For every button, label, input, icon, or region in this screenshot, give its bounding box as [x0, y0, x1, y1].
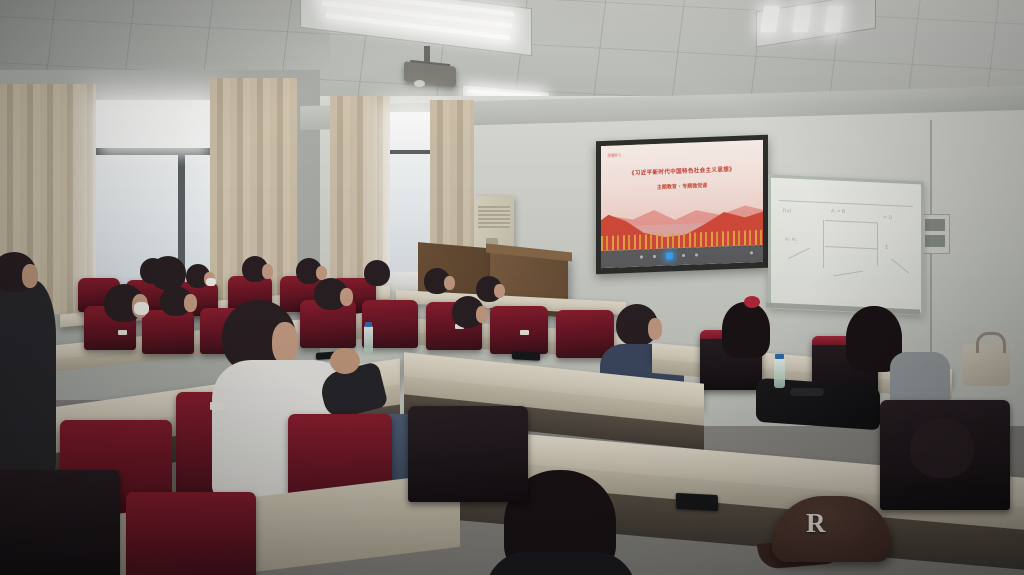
student-hand [330, 348, 360, 374]
water-bottle[interactable] [774, 358, 785, 388]
hair-tie [744, 296, 760, 308]
student-face [272, 322, 298, 364]
toolbar-play-icon[interactable] [666, 253, 673, 260]
student-face [444, 276, 455, 290]
window-frame-horizontal [390, 150, 432, 154]
student-shoulder [486, 552, 636, 575]
student-hair-long [722, 302, 770, 358]
whiteboard-note: f(x) [783, 208, 792, 214]
lecture-hall-photo: 党课学习 《习近平新时代中国特色社会主义思想》 主题教育 · 专题微党课 f(x… [0, 0, 1024, 575]
toolbar-rewind-icon[interactable] [653, 255, 656, 258]
auditorium-seat[interactable] [126, 492, 256, 575]
whiteboard-line [877, 222, 878, 266]
wall-switch-panel-slot [925, 235, 945, 247]
whiteboard-note: = 0 [883, 215, 892, 221]
window-glare [100, 104, 208, 156]
toolbar-forward-icon[interactable] [682, 254, 685, 257]
auditorium-seat[interactable] [490, 306, 548, 354]
cap-letter: R [806, 508, 826, 539]
bottle-cap [365, 322, 372, 327]
whiteboard-line [823, 220, 824, 268]
projected-slide: 党课学习 《习近平新时代中国特色社会主义思想》 主题教育 · 专题微党课 [601, 140, 763, 268]
smartphone-on-desk[interactable] [676, 493, 719, 511]
student-face [494, 284, 505, 298]
whiteboard-scribble [833, 271, 863, 277]
student-face [262, 264, 273, 279]
auditorium-seat[interactable] [408, 406, 528, 502]
student-face [648, 318, 662, 340]
student-head [364, 260, 390, 286]
auditorium-seat[interactable] [0, 470, 120, 575]
ac-vent-grille [478, 206, 510, 228]
seat-number-label [210, 402, 224, 410]
projector-lens [414, 80, 425, 87]
student-face [476, 306, 488, 323]
auditorium-seat[interactable] [142, 310, 194, 354]
student-face [340, 288, 353, 306]
whiteboard-line [825, 246, 877, 249]
bottle-cap [775, 354, 784, 359]
student-face [22, 264, 38, 288]
whiteboard-note: x₁ x₂ [785, 236, 797, 243]
toolbar-next-icon[interactable] [695, 253, 698, 256]
backpack-strap [790, 388, 824, 396]
projection-screen[interactable]: 党课学习 《习近平新时代中国特色社会主义思想》 主题教育 · 专题微党课 [596, 135, 768, 275]
student-face [184, 294, 197, 312]
smartphone-on-desk[interactable] [512, 351, 540, 360]
curtain [330, 96, 390, 281]
whiteboard-scribble [891, 258, 909, 273]
whiteboard[interactable]: f(x) A → B = 0 x₁ x₂ Σ [768, 174, 924, 315]
student-head [150, 256, 186, 290]
whiteboard-note: Σ [885, 245, 888, 251]
toolbar-prev-icon[interactable] [640, 255, 643, 258]
face-mask [206, 278, 216, 286]
whiteboard-line [825, 220, 877, 223]
water-bottle[interactable] [364, 326, 373, 354]
whiteboard-line [779, 200, 913, 207]
handbag-handle [976, 332, 1006, 353]
face-mask [134, 302, 149, 315]
seat-number-label [118, 330, 127, 335]
student-torso [0, 280, 56, 480]
seat-number-label [520, 330, 529, 335]
student-head [910, 418, 974, 478]
slide-corner-label: 党课学习 [607, 153, 621, 159]
wall-switch-panel-slot [925, 219, 945, 231]
whiteboard-note: A → B [831, 208, 845, 215]
whiteboard-scribble [788, 248, 810, 259]
toolbar-settings-icon[interactable] [750, 251, 753, 254]
